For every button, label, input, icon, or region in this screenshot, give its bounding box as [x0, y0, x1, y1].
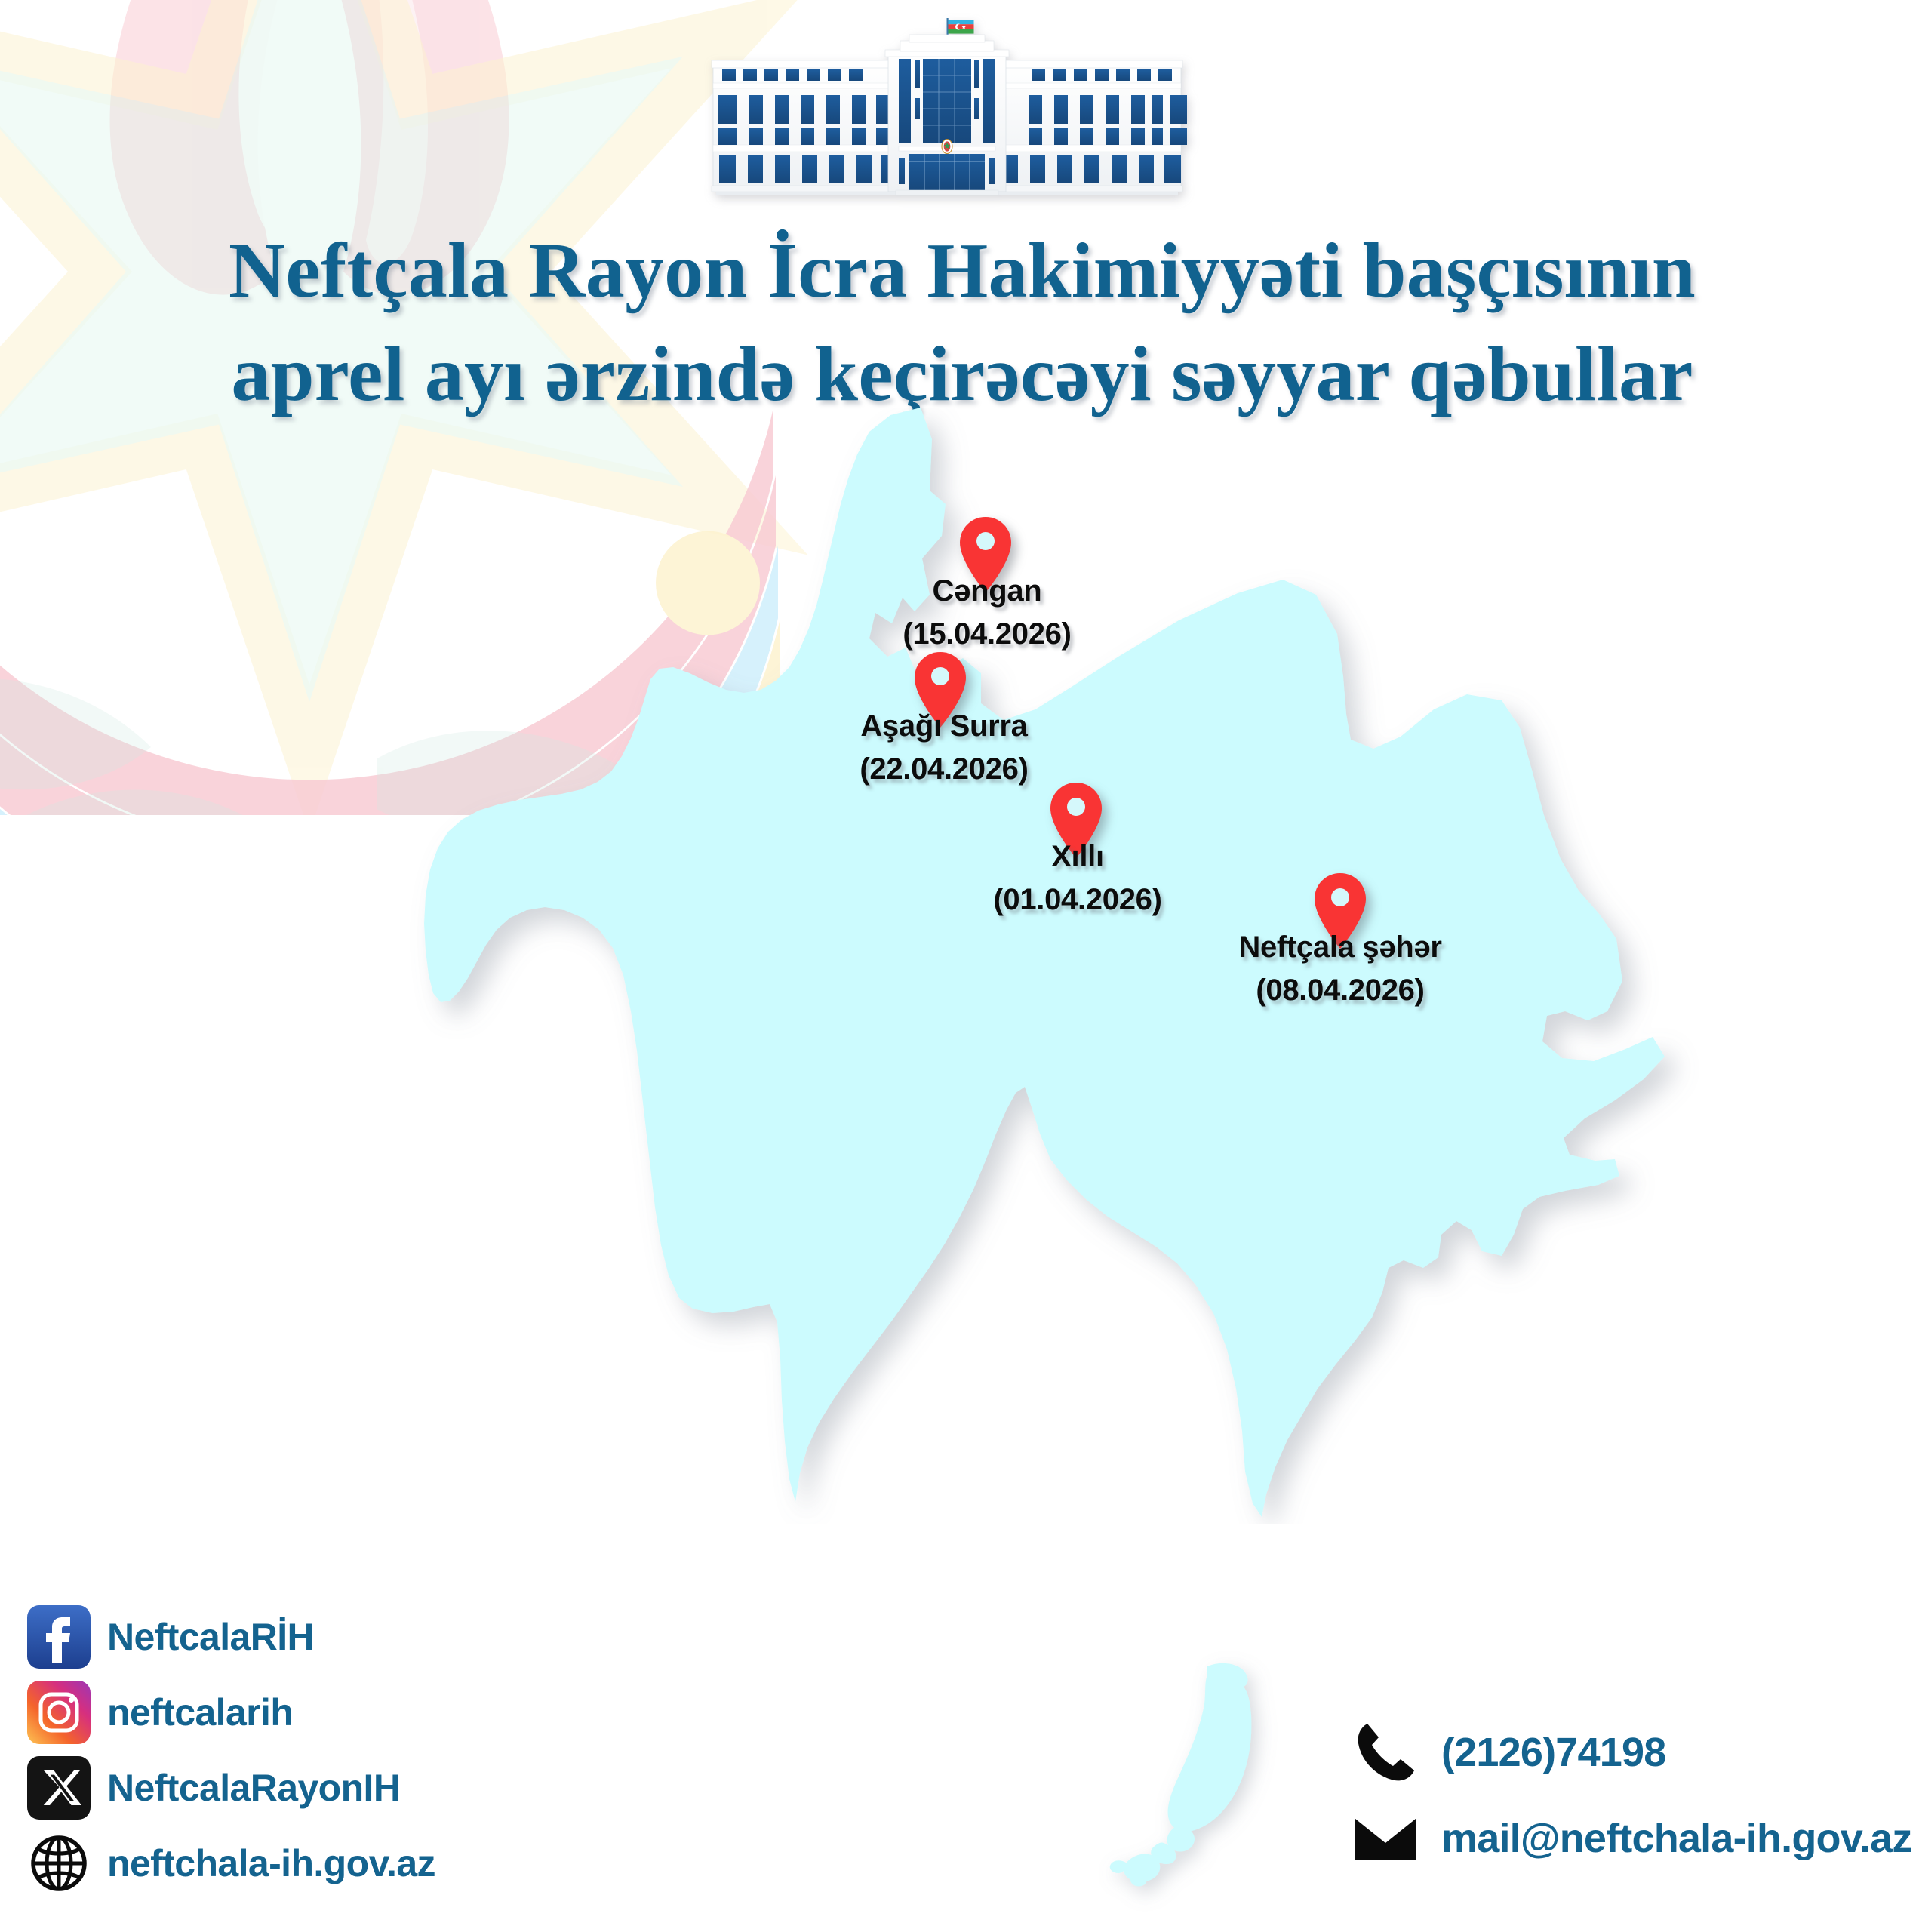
title-line-1: Neftçala Rayon İcra Hakimiyyəti başçısın… [91, 219, 1834, 322]
pin-name: Cəngan [866, 570, 1108, 613]
social-item-facebook[interactable]: NeftcalaRİH [27, 1600, 555, 1674]
map-island-shape [1094, 1645, 1343, 1932]
pin-name: Neftçala şəhər [1212, 926, 1468, 969]
social-handle: neftcalarih [107, 1690, 293, 1734]
pin-date: (01.04.2026) [957, 878, 1198, 921]
globe-icon [27, 1832, 91, 1895]
page-title: Neftçala Rayon İcra Hakimiyyəti başçısın… [91, 219, 1834, 426]
social-handle: neftchala-ih.gov.az [107, 1841, 435, 1885]
mail-icon [1351, 1804, 1420, 1873]
map-pin-label-xilli: Xıllı (01.04.2026) [957, 835, 1198, 921]
social-item-x-twitter[interactable]: NeftcalaRayonIH [27, 1751, 555, 1825]
map-pin-label-neftcala-seher: Neftçala şəhər (08.04.2026) [1212, 926, 1468, 1012]
social-handle: NeftcalaRayonIH [107, 1766, 400, 1810]
social-item-website[interactable]: neftchala-ih.gov.az [27, 1826, 555, 1900]
contact-info: (2126)74198 mail@neftchala-ih.gov.az [1351, 1709, 1909, 1881]
map-pin-label-asagi-surra: Aşağı Surra (22.04.2026) [820, 705, 1069, 791]
email-address: mail@neftchala-ih.gov.az [1441, 1815, 1912, 1862]
pin-date: (22.04.2026) [820, 748, 1069, 791]
phone-icon [1351, 1718, 1420, 1787]
facebook-icon [27, 1605, 91, 1669]
azerbaijan-emblem-icon [942, 140, 952, 154]
government-building-icon [683, 14, 1211, 214]
pin-name: Xıllı [957, 835, 1198, 878]
contact-item-phone[interactable]: (2126)74198 [1351, 1709, 1909, 1795]
social-handle: NeftcalaRİH [107, 1615, 314, 1659]
pin-date: (08.04.2026) [1212, 969, 1468, 1012]
contact-item-mail[interactable]: mail@neftchala-ih.gov.az [1351, 1795, 1909, 1881]
x-twitter-icon [27, 1756, 91, 1820]
phone-number: (2126)74198 [1441, 1729, 1665, 1776]
social-item-instagram[interactable]: neftcalarih [27, 1675, 555, 1749]
social-links: NeftcalaRİH neftcalarih NeftcalaRayonIH [27, 1600, 555, 1902]
pin-date: (15.04.2026) [866, 613, 1108, 656]
pin-name: Aşağı Surra [820, 705, 1069, 748]
instagram-icon [27, 1681, 91, 1744]
map-pin-label-cengan: Cəngan (15.04.2026) [866, 570, 1108, 656]
